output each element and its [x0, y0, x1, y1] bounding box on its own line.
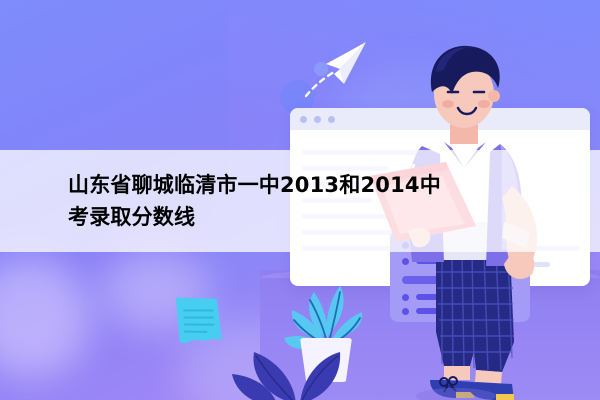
dark-leaf-cluster: [226, 286, 346, 400]
window-dot-icon: [314, 116, 321, 123]
document-page-icon: [170, 288, 228, 350]
window-dot-icon: [300, 116, 307, 123]
page-title: 山东省聊城临清市一中2013和2014中 考录取分数线: [68, 150, 600, 252]
page-title-line-2: 考录取分数线: [68, 204, 600, 231]
window-dot-icon: [328, 116, 335, 123]
page-title-line-1: 山东省聊城临清市一中2013和2014中: [68, 172, 600, 199]
image-canvas: 山东省聊城临清市一中2013和2014中 考录取分数线: [0, 0, 600, 400]
